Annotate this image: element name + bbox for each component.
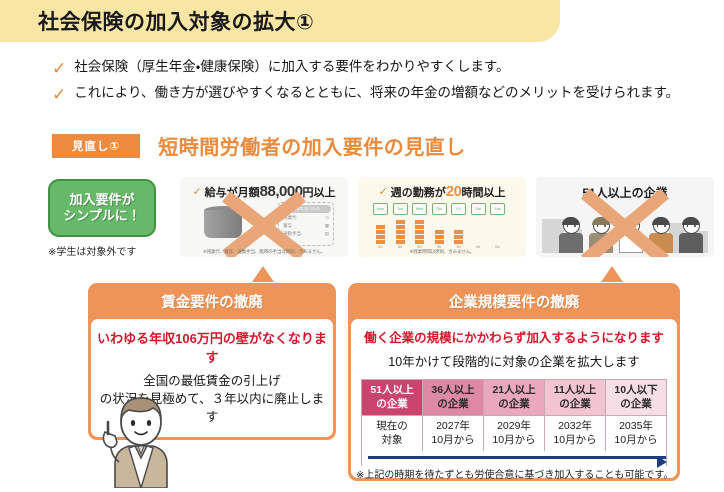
- section-badge: 見直し①: [52, 134, 140, 158]
- section-title: 短時間労働者の加入要件の見直し: [158, 131, 466, 160]
- hour-segment: [454, 240, 463, 244]
- company-panel-subline: 10年かけて段階的に対象の企業を拡大します: [361, 351, 667, 370]
- wage-card-title: ✓ 給与が月額 88,000 円以上: [180, 177, 348, 200]
- week-day-column: Mon4h: [372, 203, 389, 249]
- hour-segment: [415, 240, 424, 244]
- bullet-text: 社会保険（厚生年金・健康保険）に加入する要件をわかりやすくします。: [74, 58, 509, 76]
- hour-segment: [415, 220, 424, 224]
- excluded-item-label: 賞与: [283, 223, 292, 229]
- section-heading: 見直し① 短時間労働者の加入要件の見直し: [52, 131, 466, 160]
- excluded-item: 残業代 ◷: [281, 215, 331, 221]
- week-day-label: Wed: [412, 203, 427, 215]
- timeline-arrow: [362, 451, 667, 466]
- bullet-item: ✓ 社会保険（厚生年金・健康保険）に加入する要件をわかりやすくします。: [52, 58, 712, 77]
- wage-label-pre: 給与が月額: [205, 184, 260, 200]
- wage-requirement-card: ✓ 給与が月額 88,000 円以上 含まれないもの 残業代 ◷ 賞与 ▦ 通勤…: [180, 177, 348, 257]
- page-title: 社会保険の加入対象の拡大①: [38, 6, 314, 36]
- week-day-label: Thu: [432, 203, 447, 215]
- bullet-list: ✓ 社会保険（厚生年金・健康保険）に加入する要件をわかりやすくします。 ✓ これ…: [52, 58, 712, 110]
- check-icon: ✓: [379, 185, 388, 198]
- week-day-label: Fri: [451, 203, 466, 215]
- week-day-column: Wed5h: [411, 203, 428, 249]
- timeline-header-cell: 10人以下の企業: [606, 380, 667, 416]
- simple-requirement-box: 加入要件が シンプルに！: [48, 179, 156, 237]
- hour-segment: [376, 230, 385, 234]
- hour-segment: [415, 230, 424, 234]
- timeline-header-cell: 51人以上の企業: [362, 380, 423, 416]
- week-hour-bars: [376, 218, 385, 244]
- timeline-header-cell: 36人以上の企業: [423, 380, 484, 416]
- connector-arrow-company: [601, 266, 623, 282]
- hour-segment: [396, 230, 405, 234]
- expansion-timeline-table: 51人以上の企業36人以上の企業21人以上の企業11人以上の企業10人以下の企業…: [361, 379, 667, 466]
- person-icon: [678, 217, 704, 253]
- week-hour-bars: [396, 218, 405, 244]
- hour-segment: [376, 235, 385, 239]
- hours-label-post: 時間以上: [461, 184, 505, 200]
- week-day-column: Thu3h: [431, 203, 448, 249]
- week-day-label: Sat: [471, 203, 486, 215]
- check-icon: ✓: [52, 58, 66, 77]
- timeline-value-cell: 2035年10月から: [606, 416, 667, 451]
- week-hour-bars: [454, 218, 463, 244]
- bullet-text: これにより、働き方が選びやすくなるとともに、将来の年金の増額などのメリットを受け…: [74, 84, 679, 102]
- excluded-item: 賞与 ▦: [281, 223, 331, 229]
- weekly-hours-chart-icon: Mon4hTue5hWed5hThu3hFri3hSat0hSun0h: [372, 203, 506, 249]
- hour-segment: [415, 225, 424, 229]
- hour-segment: [454, 230, 463, 234]
- company-card-body: [536, 201, 714, 253]
- table-row: 現在の対象2027年10月から2029年10月から2032年10月から2035年…: [362, 416, 667, 451]
- person-icon: [558, 217, 584, 253]
- hour-segment: [435, 230, 444, 234]
- excluded-pill-label: 含まれないもの: [281, 205, 331, 213]
- hour-segment: [376, 240, 385, 244]
- table-header-row: 51人以上の企業36人以上の企業21人以上の企業11人以上の企業10人以下の企業: [362, 380, 667, 416]
- company-size-abolition-panel: 企業規模要件の撤廃 働く企業の規模にかかわらず加入するようになります 10年かけ…: [348, 283, 680, 481]
- title-banner: 社会保険の加入対象の拡大①: [0, 0, 560, 42]
- excluded-item-label: 通勤手当: [283, 231, 301, 237]
- timeline-header-cell: 11人以上の企業: [545, 380, 606, 416]
- hour-segment: [435, 240, 444, 244]
- simple-box-line2: シンプルに！: [63, 208, 141, 224]
- wage-amount: 88,000: [260, 183, 303, 200]
- hour-segment: [454, 235, 463, 239]
- excluded-items-box: 含まれないもの 残業代 ◷ 賞与 ▦ 通勤手当 ▤: [278, 202, 334, 246]
- hours-amount: 20: [446, 183, 462, 200]
- week-hour-bars: [415, 218, 424, 244]
- timeline-value-cell: 現在の対象: [362, 416, 423, 451]
- wage-card-body: 含まれないもの 残業代 ◷ 賞与 ▦ 通勤手当 ▤: [180, 200, 348, 252]
- wage-panel-title: 賃金要件の撤廃: [91, 286, 333, 319]
- week-day-label: Sun: [490, 203, 505, 215]
- hour-segment: [376, 225, 385, 229]
- week-day-column: Tue5h: [392, 203, 409, 249]
- hours-card-body: Mon4hTue5hWed5hThu3hFri3hSat0hSun0h: [358, 200, 526, 252]
- timeline-header-cell: 21人以上の企業: [484, 380, 545, 416]
- person-icon: [618, 217, 644, 253]
- hour-segment: [396, 225, 405, 229]
- hour-segment: [415, 235, 424, 239]
- clock-icon: ◷: [325, 215, 329, 221]
- company-people-icon: [536, 203, 714, 253]
- person-icon: [648, 217, 674, 253]
- hours-card-title: ✓ 週の勤務が 20 時間以上: [358, 177, 526, 200]
- timeline-arrow-row: [362, 451, 667, 466]
- timeline-value-cell: 2029年10月から: [484, 416, 545, 451]
- wage-label-post: 円以上: [303, 184, 336, 200]
- simple-box-line1: 加入要件が: [69, 192, 134, 208]
- company-panel-headline: 働く企業の規模にかかわらず加入するようになります: [361, 327, 667, 346]
- company-panel-body: 働く企業の規模にかかわらず加入するようになります 10年かけて段階的に対象の企業…: [351, 319, 677, 478]
- hour-segment: [396, 220, 405, 224]
- wage-card-footnote: ※残業代、賞与、通勤手当、臨時の手当は原則、含みません。: [180, 249, 348, 255]
- hours-label-pre: 週の勤務が: [391, 184, 446, 200]
- excluded-item: 通勤手当 ▤: [281, 231, 331, 237]
- panel-footnote: ※上記の時期を待たずとも労使合意に基づき加入することも可能です。: [356, 466, 673, 481]
- hour-segment: [396, 235, 405, 239]
- check-icon: ✓: [52, 84, 66, 103]
- train-icon: ▤: [325, 231, 329, 237]
- hours-requirement-card: ✓ 週の勤務が 20 時間以上 Mon4hTue5hWed5hThu3hFri3…: [358, 177, 526, 257]
- company-panel-title: 企業規模要件の撤廃: [351, 286, 677, 319]
- hour-segment: [435, 235, 444, 239]
- timeline-value-cell: 2032年10月から: [545, 416, 606, 451]
- week-day-column: Fri3h: [450, 203, 467, 249]
- money-jar-icon: [204, 206, 242, 240]
- wage-panel-headline: いわゆる年収106万円の壁がなくなります: [97, 328, 327, 366]
- week-day-label: Mon: [373, 203, 388, 215]
- week-day-column: Sun0h: [489, 203, 506, 249]
- hour-segment: [396, 240, 405, 244]
- week-day-column: Sat0h: [470, 203, 487, 249]
- bullet-item: ✓ これにより、働き方が選びやすくなるとともに、将来の年金の増額などのメリットを…: [52, 84, 712, 103]
- timeline-value-cell: 2027年10月から: [423, 416, 484, 451]
- presenter-illustration: [95, 392, 187, 488]
- student-exclusion-note: ※学生は対象外です: [48, 243, 136, 258]
- gift-icon: ▦: [325, 223, 329, 229]
- connector-arrow-wage: [252, 266, 274, 282]
- week-day-label: Tue: [393, 203, 408, 215]
- company-size-requirement-card: 51人以上の企業: [536, 177, 714, 257]
- week-hour-bars: [435, 218, 444, 244]
- company-size-label: 51人以上の企業: [536, 177, 714, 201]
- person-icon: [588, 217, 614, 253]
- excluded-item-label: 残業代: [283, 215, 297, 221]
- wage-panel-line1: 全国の最低賃金の引上げ: [97, 372, 327, 390]
- hours-card-footnote: ※残業時間は原則、含みません。: [358, 249, 526, 255]
- check-icon: ✓: [192, 185, 201, 198]
